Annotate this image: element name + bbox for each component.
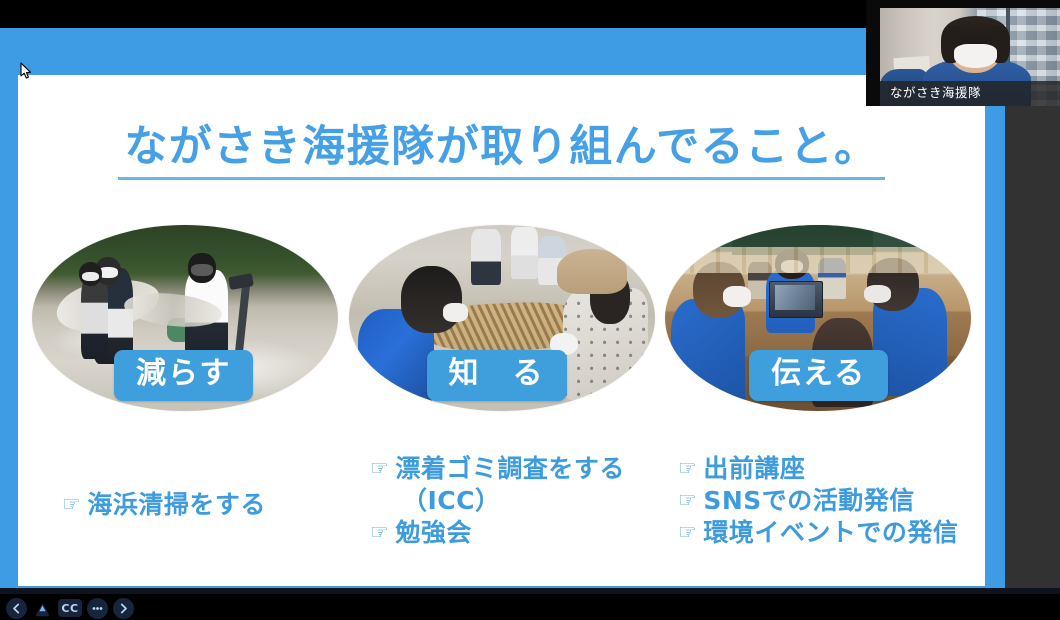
list-item: ☞SNSでの活動発信: [678, 485, 958, 517]
closed-captions-button[interactable]: CC: [58, 599, 82, 617]
presentation-toolbar[interactable]: CC: [2, 596, 134, 620]
desktop-background-right: [1005, 28, 1060, 594]
previous-slide-button[interactable]: [6, 598, 27, 619]
arrow-left-icon: [10, 602, 23, 615]
bullet-list-reduce: ☞海浜清掃をする: [62, 489, 266, 521]
column-tell: 伝える: [665, 225, 971, 415]
pointer-tool-button[interactable]: [32, 598, 53, 619]
slide-title-container: ながさき海援隊が取り組んでること。: [18, 123, 985, 180]
list-item-label: 漂着ゴミ調査をする: [395, 454, 625, 483]
list-item-label: 出前講座: [703, 454, 805, 483]
arrow-right-icon: [117, 602, 130, 615]
list-item: ☞環境イベントでの発信: [678, 517, 958, 549]
more-options-button[interactable]: [87, 598, 108, 619]
column-reduce: 減らす: [32, 225, 338, 415]
webcam-pip[interactable]: ながさき海援隊: [866, 0, 1060, 106]
bullet-list-know: ☞漂着ゴミ調査をする （ICC） ☞勉強会: [370, 453, 625, 549]
column-know: 知 る: [349, 225, 655, 415]
presentation-screen: ながさき海援隊が取り組んでること。: [0, 0, 1060, 594]
list-item-label: 勉強会: [395, 518, 472, 547]
pointing-hand-icon: ☞: [678, 455, 697, 482]
face-mask: [954, 44, 997, 68]
page-title: ながさき海援隊が取り組んでること。: [118, 123, 884, 180]
list-item: ☞勉強会: [370, 517, 625, 549]
photo-caption-chip-tell: 伝える: [749, 350, 888, 401]
list-item-label: SNSでの活動発信: [703, 486, 914, 515]
slide-canvas: ながさき海援隊が取り組んでること。: [18, 75, 985, 586]
pointing-hand-icon: ☞: [62, 491, 81, 518]
pointing-hand-icon: ☞: [370, 455, 389, 482]
pointing-hand-icon: ☞: [678, 519, 697, 546]
list-item-continuation: （ICC）: [370, 485, 625, 517]
pointing-hand-icon: ☞: [678, 487, 697, 514]
list-item: ☞漂着ゴミ調査をする: [370, 453, 625, 485]
next-slide-button[interactable]: [113, 598, 134, 619]
photo-caption-chip-know: 知 る: [427, 350, 567, 401]
list-item-label: 海浜清掃をする: [87, 490, 266, 519]
pointer-triangle-icon: [33, 600, 52, 619]
slide-frame: ながさき海援隊が取り組んでること。: [0, 28, 1005, 588]
pointing-hand-icon: ☞: [370, 519, 389, 546]
photo-columns: 減らす 知 る: [18, 225, 985, 425]
bullet-list-tell: ☞出前講座 ☞SNSでの活動発信 ☞環境イベントでの発信: [678, 453, 958, 549]
list-item-label: 環境イベントでの発信: [703, 518, 958, 547]
photo-caption-chip-reduce: 減らす: [114, 350, 253, 401]
list-item: ☞海浜清掃をする: [62, 489, 266, 521]
ellipsis-icon: [90, 601, 105, 616]
bullet-lists: ☞海浜清掃をする ☞漂着ゴミ調査をする （ICC） ☞勉強会: [18, 431, 985, 581]
list-item: ☞出前講座: [678, 453, 958, 485]
participant-name-label: ながさき海援隊: [880, 81, 1060, 107]
list-item-label: （ICC）: [402, 486, 501, 515]
desktop-background-bottom: [0, 588, 1060, 594]
